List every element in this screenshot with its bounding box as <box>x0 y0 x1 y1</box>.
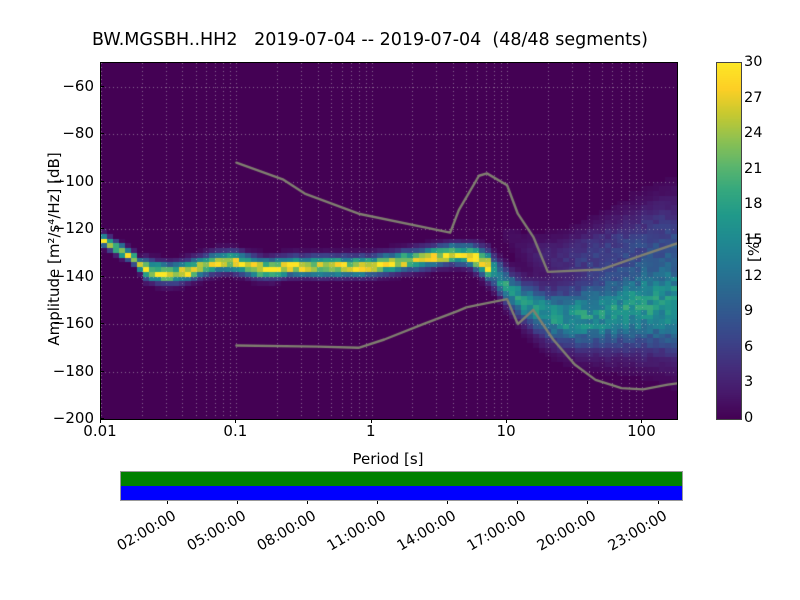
colorbar-tick-label: 27 <box>744 90 762 106</box>
y-axis-tick-mark <box>100 371 104 372</box>
y-axis-tick-label: −180 <box>34 362 94 380</box>
colorbar-tick-label: 30 <box>744 54 762 70</box>
x-axis-tick-label: 10 <box>497 422 516 440</box>
x-axis-tick-label: 0.1 <box>223 422 247 440</box>
colorbar-tick-label: 24 <box>744 125 762 141</box>
y-axis-tick-label: −160 <box>34 314 94 332</box>
colorbar-gradient <box>717 63 741 419</box>
y-axis-tick-label: −100 <box>34 172 94 190</box>
y-axis-tick-mark <box>100 323 104 324</box>
y-axis-tick-mark <box>100 133 104 134</box>
colorbar-tick-label: 21 <box>744 161 762 177</box>
data-coverage-bar <box>120 471 683 501</box>
x-axis-tick-mark <box>235 419 236 423</box>
noise-model-overlay <box>101 63 677 419</box>
colorbar-label: [%] <box>745 189 763 309</box>
ppsd-figure: BW.MGSBH..HH2 2019-07-04 -- 2019-07-04 (… <box>0 0 800 600</box>
y-axis-tick-mark <box>100 276 104 277</box>
y-axis-tick-mark <box>100 86 104 87</box>
y-axis-tick-label: −120 <box>34 219 94 237</box>
colorbar-tick-label: 6 <box>744 339 753 355</box>
ppsd-plot-area <box>100 62 678 420</box>
colorbar-tick-label: 3 <box>744 374 753 390</box>
x-axis-tick-mark <box>506 419 507 423</box>
y-axis-tick-mark <box>100 228 104 229</box>
x-axis-tick-mark <box>641 419 642 423</box>
x-axis-tick-label: 100 <box>627 422 656 440</box>
coverage-bar-top <box>121 472 682 486</box>
x-axis-tick-mark <box>100 419 101 423</box>
x-axis-tick-label: 1 <box>366 422 376 440</box>
coverage-bar-bottom <box>121 486 682 500</box>
y-axis-tick-mark <box>100 181 104 182</box>
y-axis-tick-label: −60 <box>34 77 94 95</box>
colorbar-tick-label: 0 <box>744 410 753 426</box>
y-axis-tick-label: −80 <box>34 124 94 142</box>
x-axis-label: Period [s] <box>100 450 676 468</box>
page-title: BW.MGSBH..HH2 2019-07-04 -- 2019-07-04 (… <box>0 30 740 50</box>
y-axis-tick-label: −140 <box>34 267 94 285</box>
x-axis-tick-mark <box>371 419 372 423</box>
colorbar <box>716 62 742 420</box>
x-axis-tick-label: 0.01 <box>83 422 116 440</box>
y-axis-label: Amplitude [m²/s⁴/Hz] [dB] <box>45 99 63 399</box>
